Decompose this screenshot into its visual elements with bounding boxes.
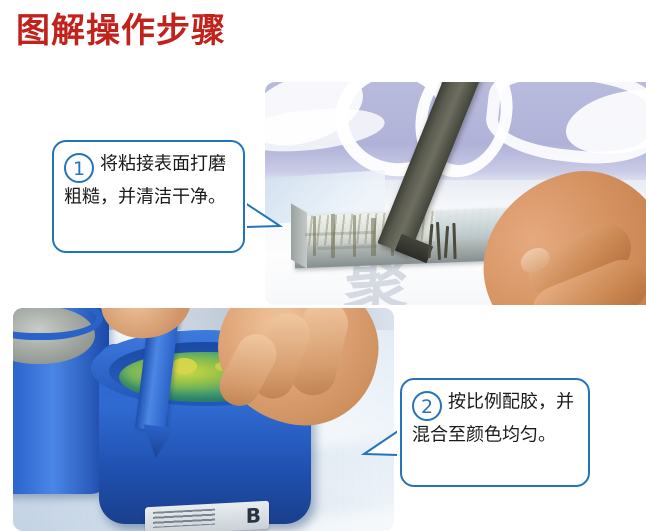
jar-label-text-lines (153, 509, 215, 528)
callout-step-2-body: 2按比例配胶，并混合至颜色均匀。 (402, 380, 588, 485)
scratch-mark (331, 214, 335, 258)
photo-step-1: 聚 (265, 82, 646, 305)
step-number-badge-1: 1 (64, 153, 94, 183)
scratch-mark (371, 218, 376, 256)
callout-step-2: 2按比例配胶，并混合至颜色均匀。 (400, 378, 590, 487)
epoxy-blob (171, 358, 197, 374)
callout-step-1-body: 1将粘接表面打磨粗糙，并清洁干净。 (54, 142, 243, 251)
instruction-graphic: 图解操作步骤 聚 (0, 0, 646, 531)
callout-step-1: 1将粘接表面打磨粗糙，并清洁干净。 (52, 140, 245, 253)
jar-label-letter: B (246, 503, 261, 528)
photo-step-2: B (13, 308, 394, 531)
page-title: 图解操作步骤 (16, 8, 226, 54)
scratch-mark (353, 215, 356, 257)
step-number-badge-2: 2 (412, 391, 442, 421)
jar-label: B (145, 501, 269, 531)
scratch-mark (313, 216, 316, 256)
